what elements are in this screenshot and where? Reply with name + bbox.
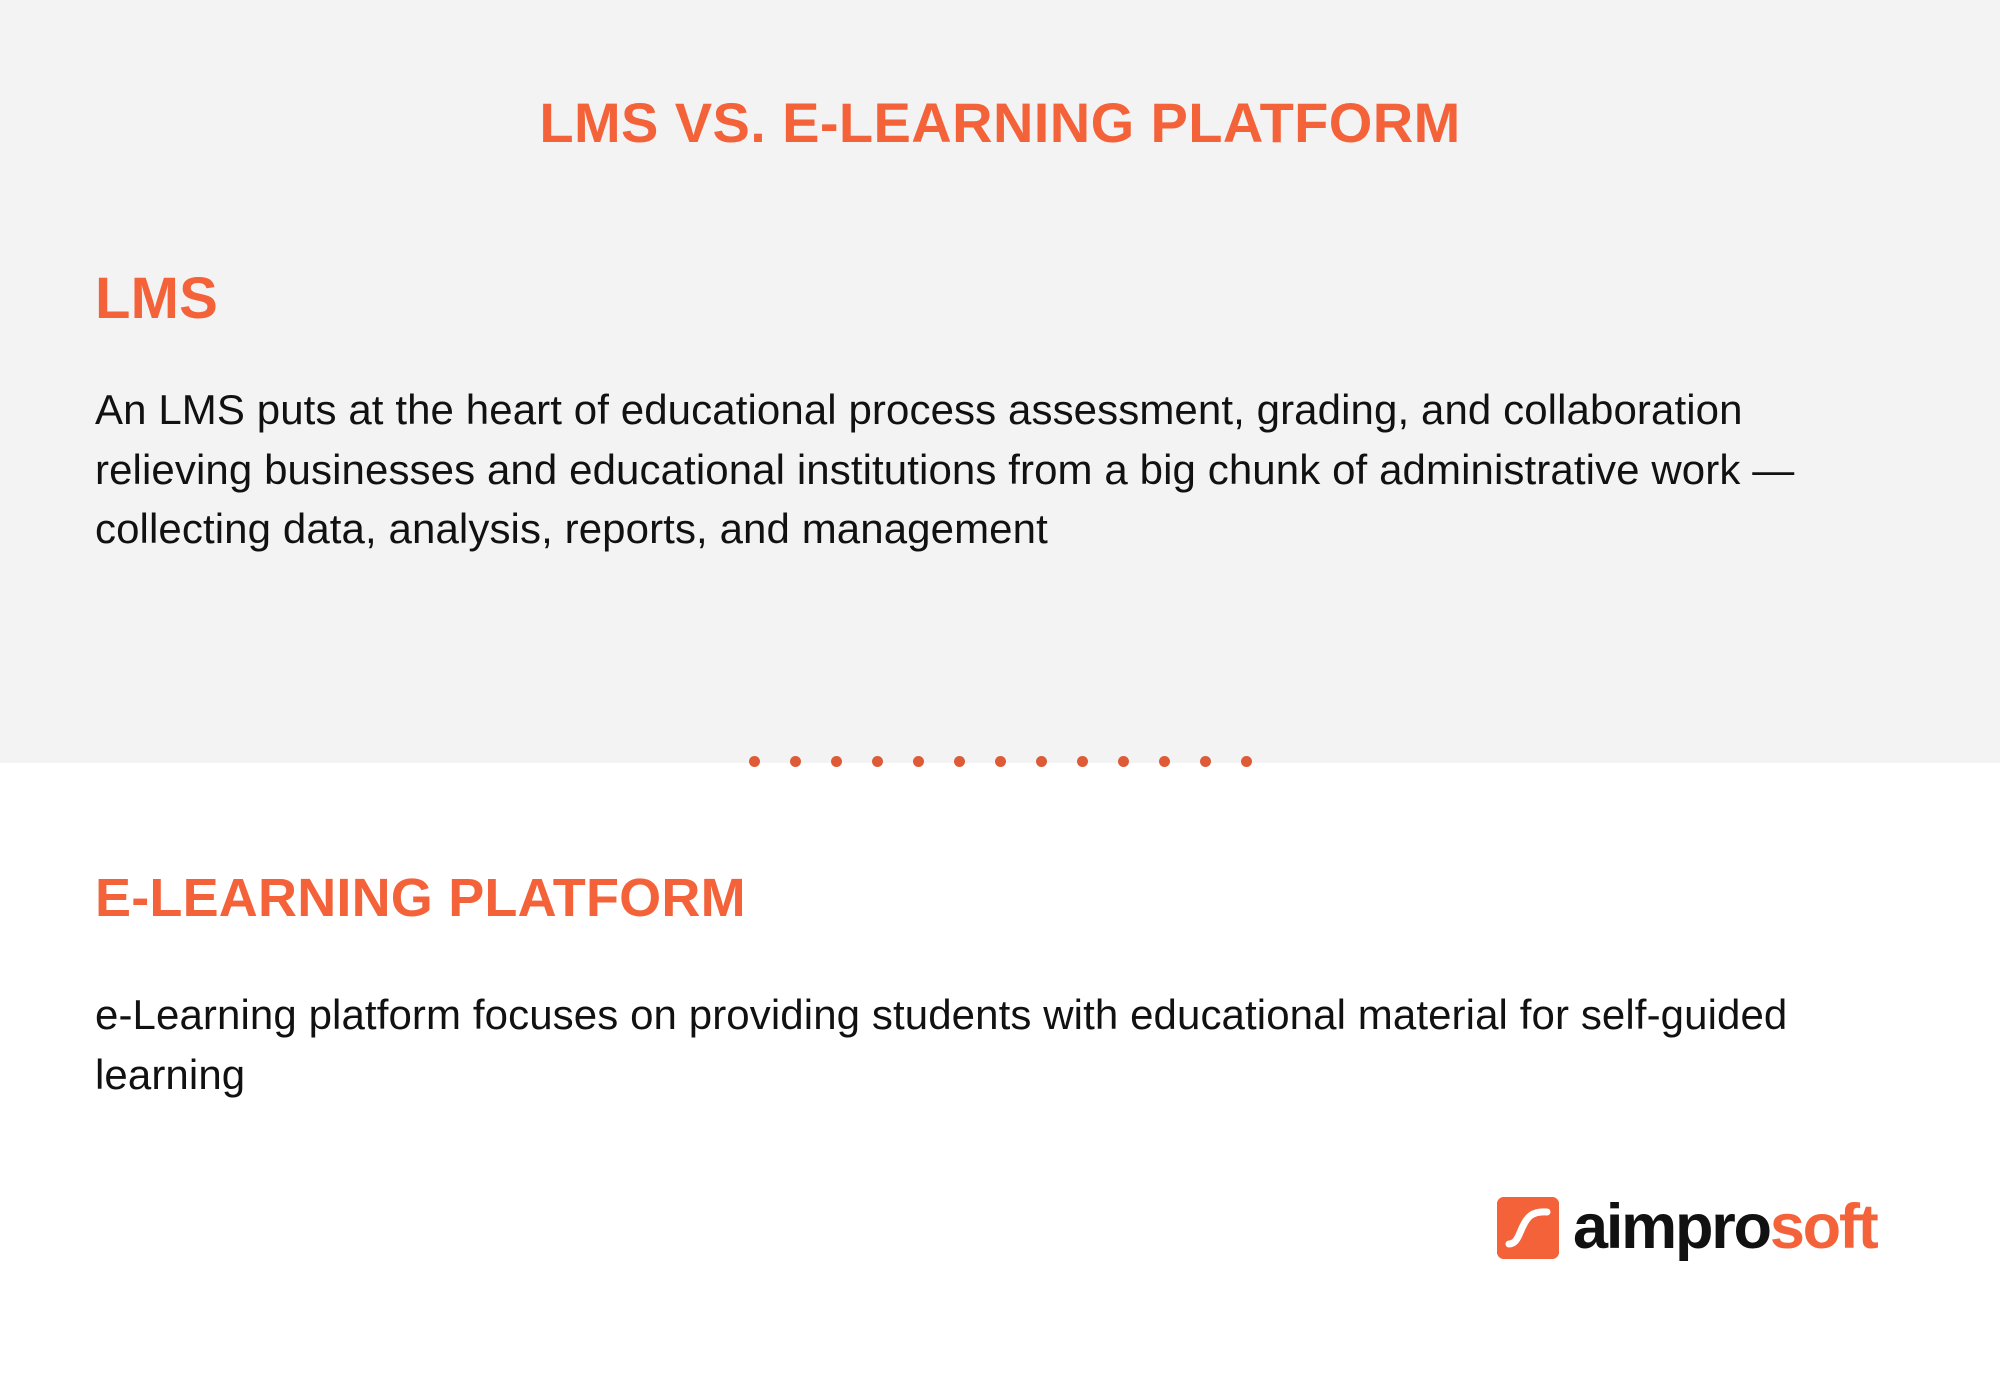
infographic-canvas: LMS VS. E-LEARNING PLATFORM LMS An LMS p… — [0, 0, 2000, 1373]
lms-section-heading: LMS — [95, 267, 218, 331]
aimprosoft-wordmark: aimprosoft — [1573, 1196, 1877, 1259]
logo-word-soft: soft — [1770, 1196, 1877, 1259]
lms-section-body: An LMS puts at the heart of educational … — [95, 380, 1895, 559]
elearning-section-body: e-Learning platform focuses on providing… — [95, 985, 1885, 1104]
logo-word-aimpro: aimpro — [1573, 1196, 1770, 1259]
aimprosoft-s-curve-icon — [1497, 1197, 1559, 1259]
elearning-section-heading: E-LEARNING PLATFORM — [95, 869, 746, 928]
aimprosoft-logo: aimprosoft — [1497, 1196, 1877, 1259]
page-title: LMS VS. E-LEARNING PLATFORM — [0, 92, 2000, 154]
